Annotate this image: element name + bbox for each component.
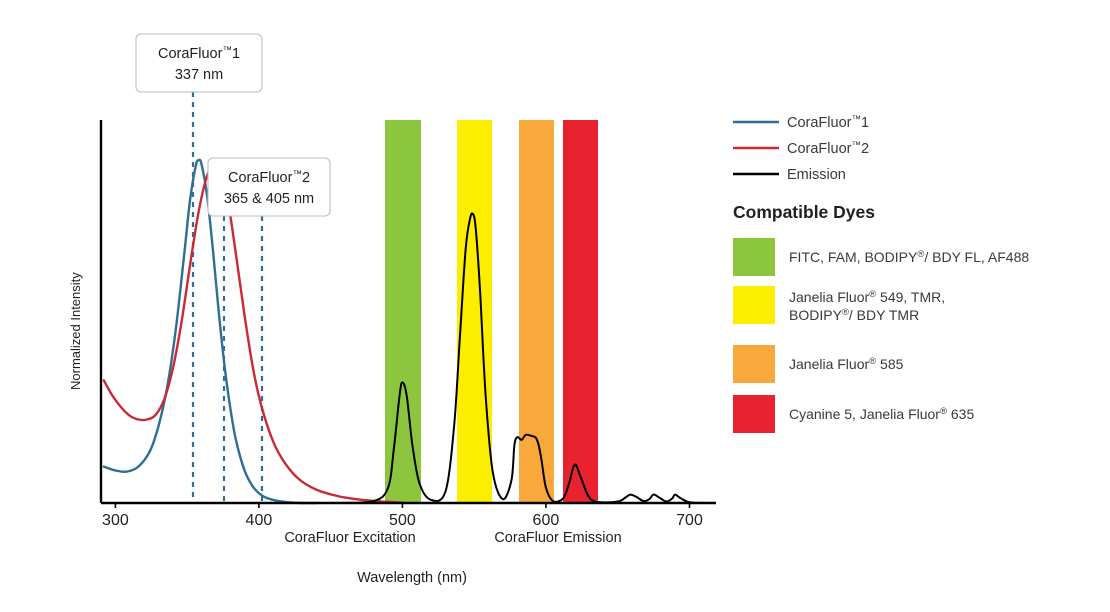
x-tick-label-300: 300 <box>102 512 129 529</box>
dye-color-swatch <box>733 395 775 433</box>
x-tick-label-400: 400 <box>246 512 273 529</box>
green-band <box>385 120 421 503</box>
dye-label: Janelia Fluor® 585 <box>789 356 904 373</box>
x-tick-label-600: 600 <box>533 512 560 529</box>
callout-corafluor-1: CoraFluor™1337 nm <box>136 34 262 92</box>
y-axis-title: Normalized Intensity <box>68 272 83 390</box>
dye-color-swatch <box>733 238 775 276</box>
callout-box <box>208 158 330 216</box>
callout-line-2: 365 & 405 nm <box>224 191 314 207</box>
callout-corafluor-2: CoraFluor™2365 & 405 nm <box>208 158 330 216</box>
dye-bands-layer <box>385 120 598 503</box>
callout-box <box>136 34 262 92</box>
red-band <box>563 120 598 503</box>
compatible-dyes-title: Compatible Dyes <box>733 202 875 222</box>
axis-section-label-1: CoraFluor Emission <box>494 530 621 546</box>
x-axis-title: Wavelength (nm) <box>357 570 467 586</box>
dye-label: BODIPY®/ BDY TMR <box>789 307 919 324</box>
dye-color-swatch <box>733 286 775 324</box>
dye-label: FITC, FAM, BODIPY®/ BDY FL, AF488 <box>789 249 1029 266</box>
x-tick-label-500: 500 <box>389 512 416 529</box>
dye-label: Janelia Fluor® 549, TMR, <box>789 289 945 306</box>
axis-section-label-0: CoraFluor Excitation <box>284 530 415 546</box>
dye-color-swatch <box>733 345 775 383</box>
spectra-figure: 300400500600700 CoraFluor ExcitationCora… <box>0 0 1110 612</box>
orange-band <box>519 120 554 503</box>
callout-line-2: 337 nm <box>175 67 223 83</box>
dye-label: Cyanine 5, Janelia Fluor® 635 <box>789 406 974 423</box>
legend-label: Emission <box>787 167 846 183</box>
x-tick-label-700: 700 <box>676 512 703 529</box>
